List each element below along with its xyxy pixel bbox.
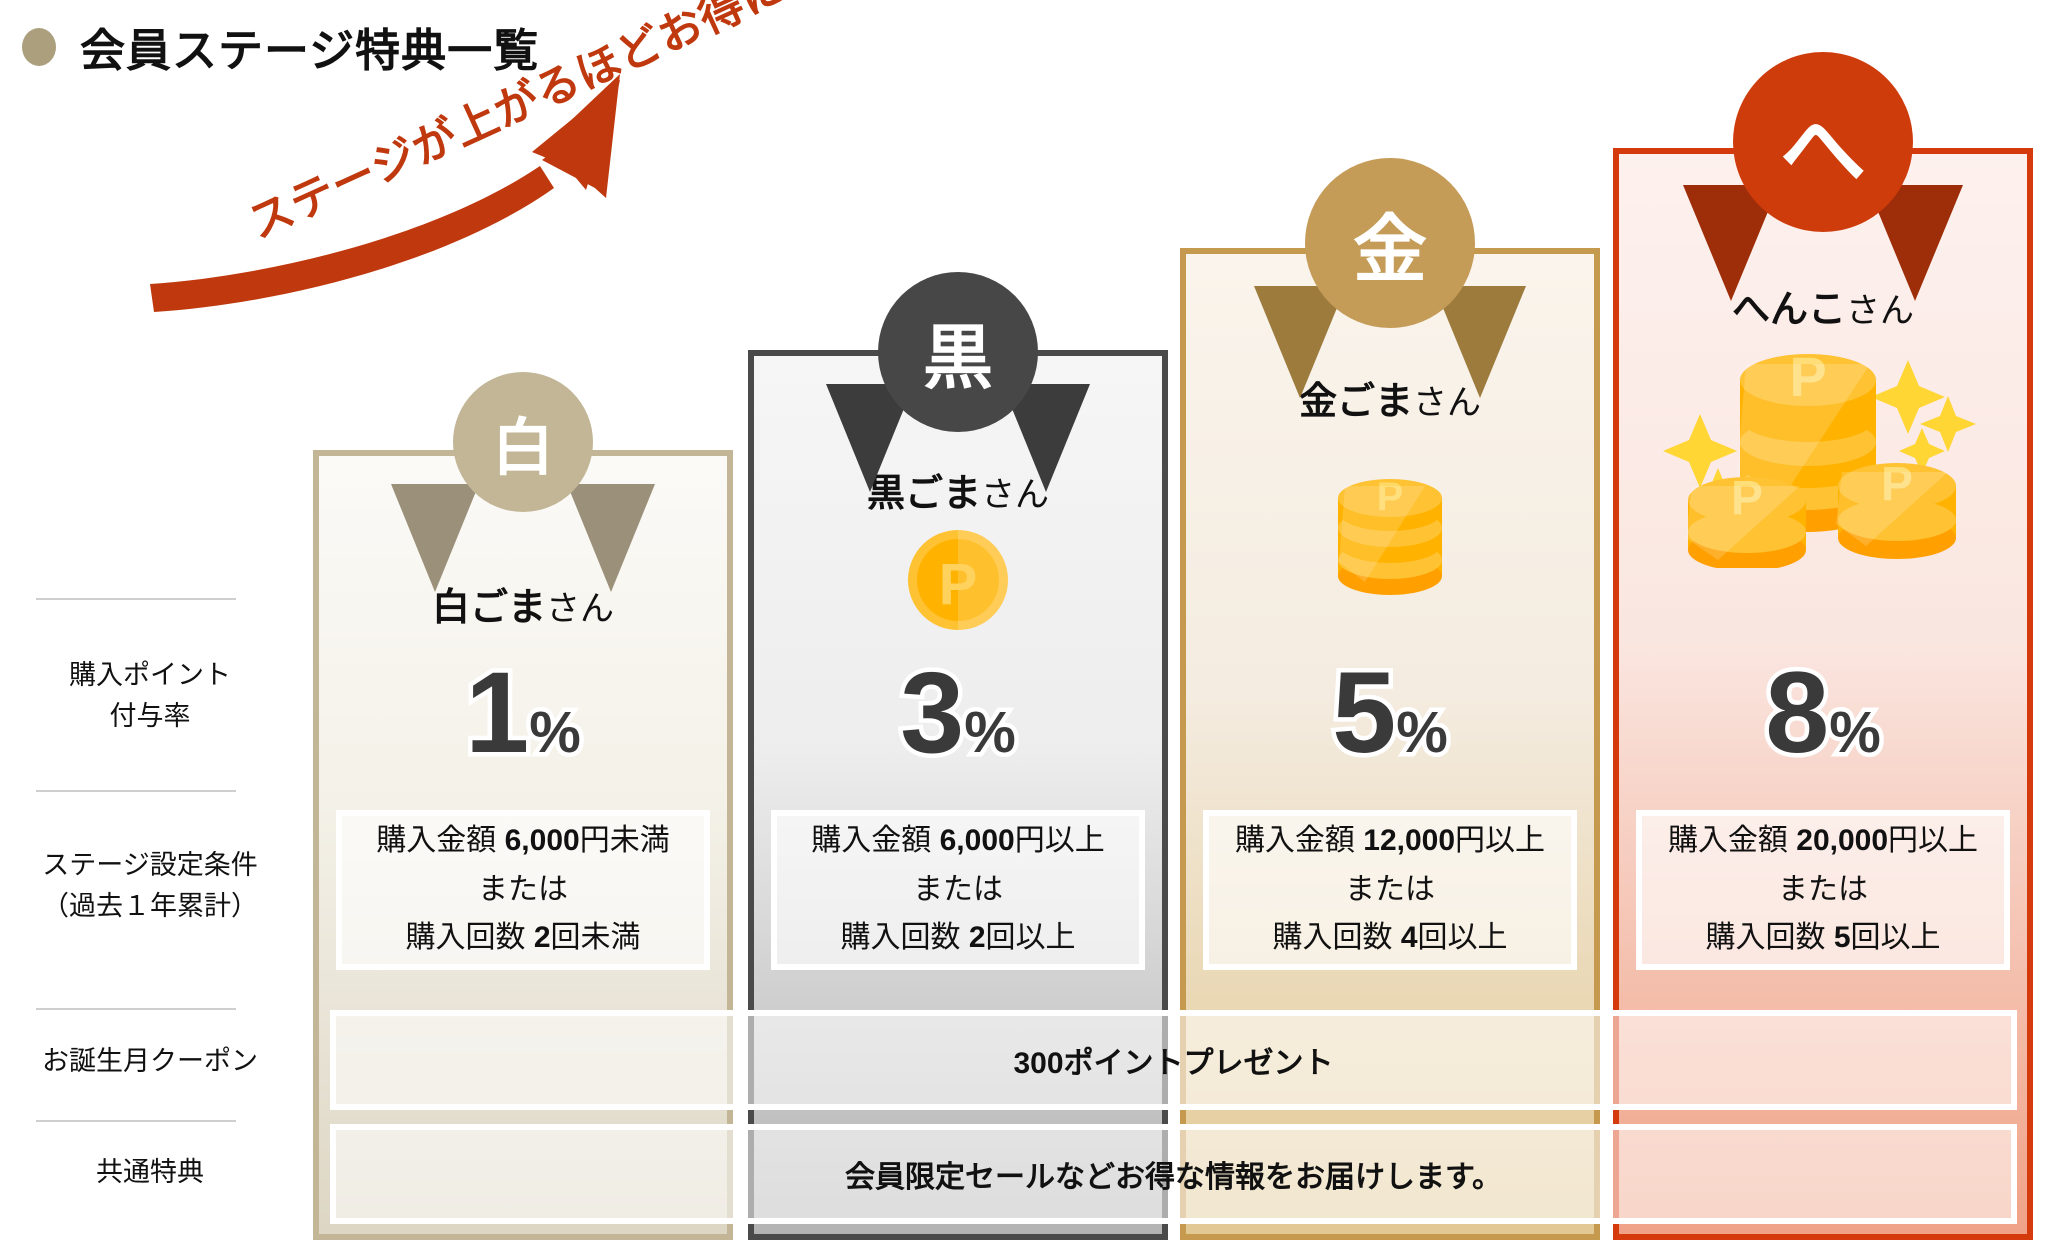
benefit-row-common-benefit-text: 会員限定セールなどお得な情報をお届けします。 [336,1130,2011,1218]
benefit-row-birthday-coupon: 300ポイントプレゼント [330,1010,2017,1110]
badge-character: 金 [1305,158,1475,328]
row-divider [36,790,236,792]
henko-chevron-rosette-icon: へ [1613,52,2033,282]
gold-sesame-rosette-icon: 金 [1180,158,1600,378]
row-divider [36,598,236,600]
row-label-stage-condition: ステージ設定条件 （過去１年累計） [0,845,300,926]
point-rate-gold: 5% [1180,656,1600,771]
badge-character: 黒 [878,272,1038,432]
white-sesame-rosette-icon: 白 [313,372,733,572]
row-label-point-rate: 購入ポイント 付与率 [0,655,300,736]
single-point-coin-icon: P [906,528,1010,632]
row-label-column: 購入ポイント 付与率 ステージ設定条件 （過去１年累計） お誕生月クーポン 共通… [0,0,300,1252]
row-label-birthday-coupon: お誕生月クーポン [0,1041,300,1082]
row-divider [36,1120,236,1122]
condition-box-white: 購入金額 6,000円未満 または 購入回数 2回未満 [336,810,710,970]
point-coin-stack-icon: P [1325,442,1455,622]
black-sesame-rosette-icon: 黒 [748,272,1168,472]
condition-box-henko: 購入金額 20,000円以上 または 購入回数 5回以上 [1636,810,2010,970]
point-rate-black: 3% [748,656,1168,771]
membership-stage-benefits-chart: 会員ステージ特典一覧 ステージが上がるほどお得に！ 購入ポイント 付与率 ステー… [0,0,2050,1252]
point-coin-pile-sparkle-icon: P P P [1660,318,1980,568]
svg-text:P: P [939,552,978,617]
point-rate-henko: 8% [1613,656,2033,771]
row-label-common-benefit: 共通特典 [0,1152,300,1193]
row-divider [36,1008,236,1010]
condition-box-gold: 購入金額 12,000円以上 または 購入回数 4回以上 [1203,810,1577,970]
condition-box-black: 購入金額 6,000円以上 または 購入回数 2回以上 [771,810,1145,970]
benefit-row-birthday-coupon-text: 300ポイントプレゼント [336,1016,2011,1104]
point-rate-white: 1% [313,656,733,771]
tier-name-gold: 金ごまさん [1180,370,1600,425]
badge-character: へ [1733,52,1913,232]
benefit-row-common-benefit: 会員限定セールなどお得な情報をお届けします。 [330,1124,2017,1224]
tier-name-white: 白ごまさん [313,576,733,631]
badge-character: 白 [453,372,593,512]
